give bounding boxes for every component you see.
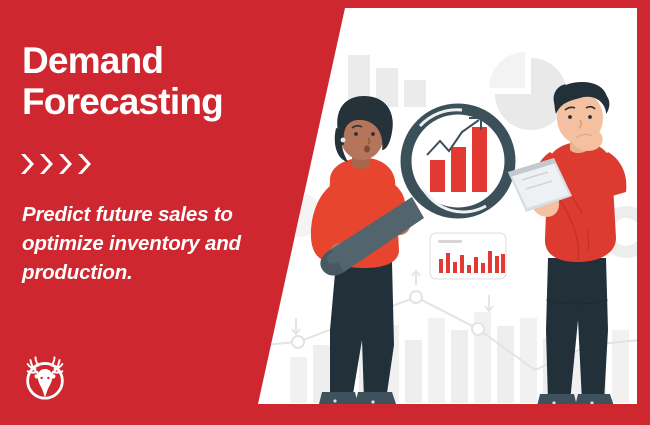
demand-forecasting-banner: Demand Forecasting Predict future sales …	[0, 0, 650, 425]
mini-bar-chart-card	[430, 233, 506, 279]
chevron-arrows-group	[20, 152, 94, 176]
page-title: Demand Forecasting	[22, 40, 292, 123]
chevron-right-icon	[77, 152, 94, 176]
text-panel: Demand Forecasting Predict future sales …	[0, 0, 300, 425]
subtitle: Predict future sales to optimize invento…	[22, 200, 277, 287]
chevron-right-icon	[39, 152, 56, 176]
chevron-right-icon	[58, 152, 75, 176]
deer-head-circle-logo	[17, 350, 73, 406]
chevron-right-icon	[20, 152, 37, 176]
floor-strip	[256, 404, 638, 413]
